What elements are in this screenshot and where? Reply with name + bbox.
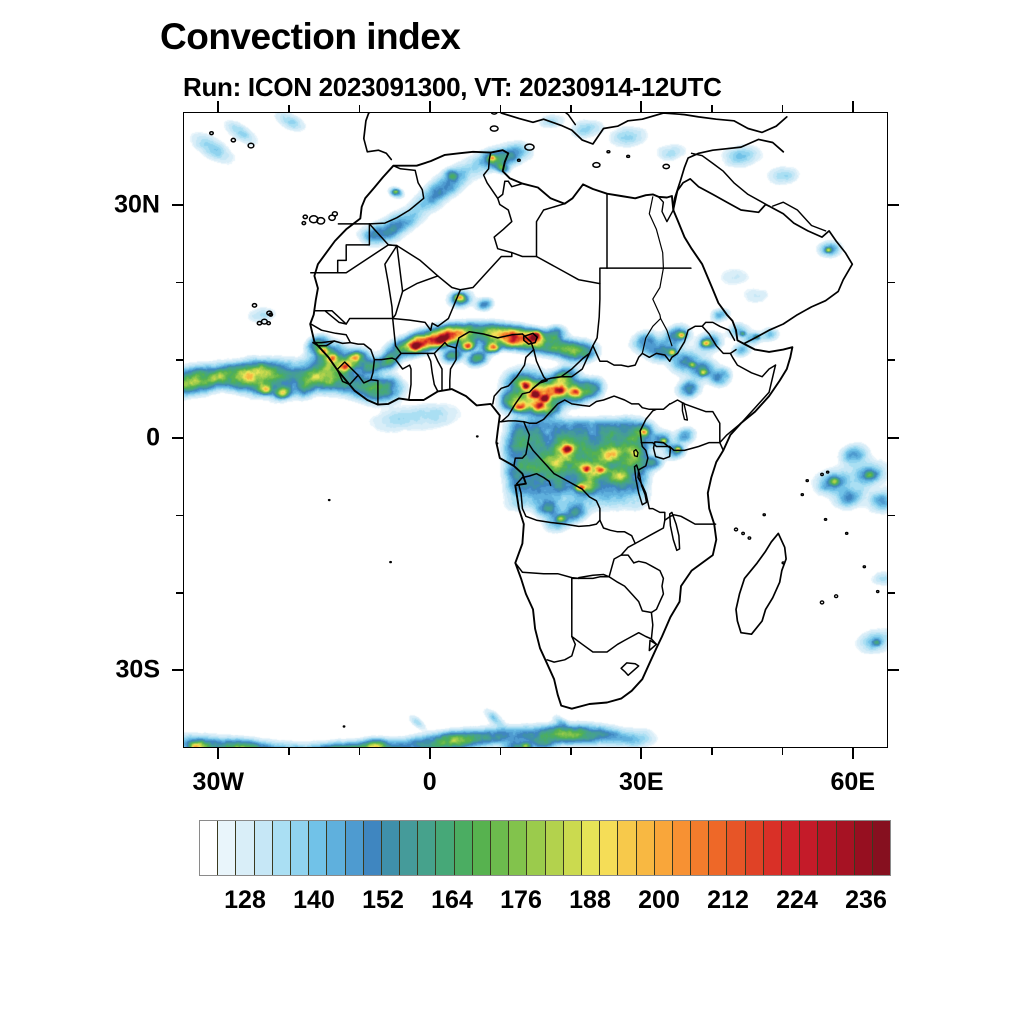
y-axis-minor-tick [176,359,183,361]
x-axis-minor-tick [711,748,713,755]
x-axis-major-tick [217,101,219,112]
y-axis-major-tick [888,437,899,439]
y-axis-major-tick [888,669,899,671]
colorbar-cell [291,821,309,875]
y-axis-tick-label: 30S [60,656,160,685]
colorbar-tick-label: 212 [707,886,749,915]
colorbar-tick-label: 236 [845,886,887,915]
y-axis-major-tick [172,669,183,671]
colorbar-tick-label: 152 [362,886,404,915]
colorbar-cell [400,821,418,875]
colorbar-cell [837,821,855,875]
y-axis-minor-tick [888,282,895,284]
map-plot-area[interactable] [183,112,888,748]
colorbar-cell [600,821,618,875]
colorbar-tick-label: 140 [293,886,335,915]
y-axis-minor-tick [888,592,895,594]
colorbar-tick-label: 188 [569,886,611,915]
colorbar-cell [546,821,564,875]
colorbar-tick-label: 128 [224,886,266,915]
colorbar-cell [364,821,382,875]
colorbar-cell [727,821,745,875]
y-axis-tick-label: 0 [60,423,160,452]
x-axis-tick-label: 30E [619,768,663,797]
colorbar-cell [509,821,527,875]
x-axis-minor-tick [782,105,784,112]
colorbar-tick-label: 176 [500,886,542,915]
y-axis-minor-tick [888,515,895,517]
colorbar-cell [746,821,764,875]
colorbar-cell [800,821,818,875]
colorbar-cell [782,821,800,875]
x-axis-tick-label: 0 [423,768,437,797]
x-axis-major-tick [429,748,431,759]
x-axis-major-tick [429,101,431,112]
x-axis-major-tick [640,101,642,112]
colorbar-cell [764,821,782,875]
coastline-borders-overlay [184,113,888,748]
x-axis-minor-tick [711,105,713,112]
colorbar-cell [655,821,673,875]
x-axis-minor-tick [570,748,572,755]
colorbar-cell [527,821,545,875]
colorbar-cell [564,821,582,875]
x-axis-minor-tick [288,105,290,112]
x-axis-major-tick [852,101,854,112]
colorbar-tick-label: 224 [776,886,818,915]
x-axis-major-tick [852,748,854,759]
colorbar-cell [818,821,836,875]
y-axis-minor-tick [176,282,183,284]
colorbar-tick-label: 200 [638,886,680,915]
x-axis-minor-tick [288,748,290,755]
x-axis-minor-tick [500,748,502,755]
colorbar-cell [691,821,709,875]
colorbar-cell [418,821,436,875]
x-axis-minor-tick [359,105,361,112]
x-axis-tick-label: 60E [831,768,875,797]
colorbar-cell [473,821,491,875]
colorbar-cell [873,821,890,875]
colorbar-tick-label: 164 [431,886,473,915]
x-axis-major-tick [217,748,219,759]
colorbar-cell [273,821,291,875]
colorbar-cell [637,821,655,875]
colorbar-cell [200,821,218,875]
x-axis-minor-tick [782,748,784,755]
page-title: Convection index [160,16,460,58]
x-axis-tick-label: 30W [193,768,244,797]
x-axis-minor-tick [570,105,572,112]
colorbar-cell [709,821,727,875]
run-info-subtitle: Run: ICON 2023091300, VT: 20230914-12UTC [183,72,722,103]
colorbar-cell [327,821,345,875]
y-axis-minor-tick [176,515,183,517]
colorbar-cell [309,821,327,875]
colorbar-cell [582,821,600,875]
colorbar[interactable] [199,820,891,876]
x-axis-major-tick [640,748,642,759]
y-axis-minor-tick [176,592,183,594]
colorbar-cell [382,821,400,875]
colorbar-cell [236,821,254,875]
y-axis-tick-label: 30N [60,191,160,220]
colorbar-cell [673,821,691,875]
colorbar-cell [855,821,873,875]
colorbar-cell [491,821,509,875]
y-axis-minor-tick [888,359,895,361]
y-axis-major-tick [172,437,183,439]
colorbar-cell [436,821,454,875]
colorbar-cell [255,821,273,875]
colorbar-cell [346,821,364,875]
x-axis-minor-tick [500,105,502,112]
y-axis-major-tick [172,204,183,206]
x-axis-minor-tick [359,748,361,755]
colorbar-cell [218,821,236,875]
y-axis-major-tick [888,204,899,206]
colorbar-cell [455,821,473,875]
colorbar-cell [618,821,636,875]
